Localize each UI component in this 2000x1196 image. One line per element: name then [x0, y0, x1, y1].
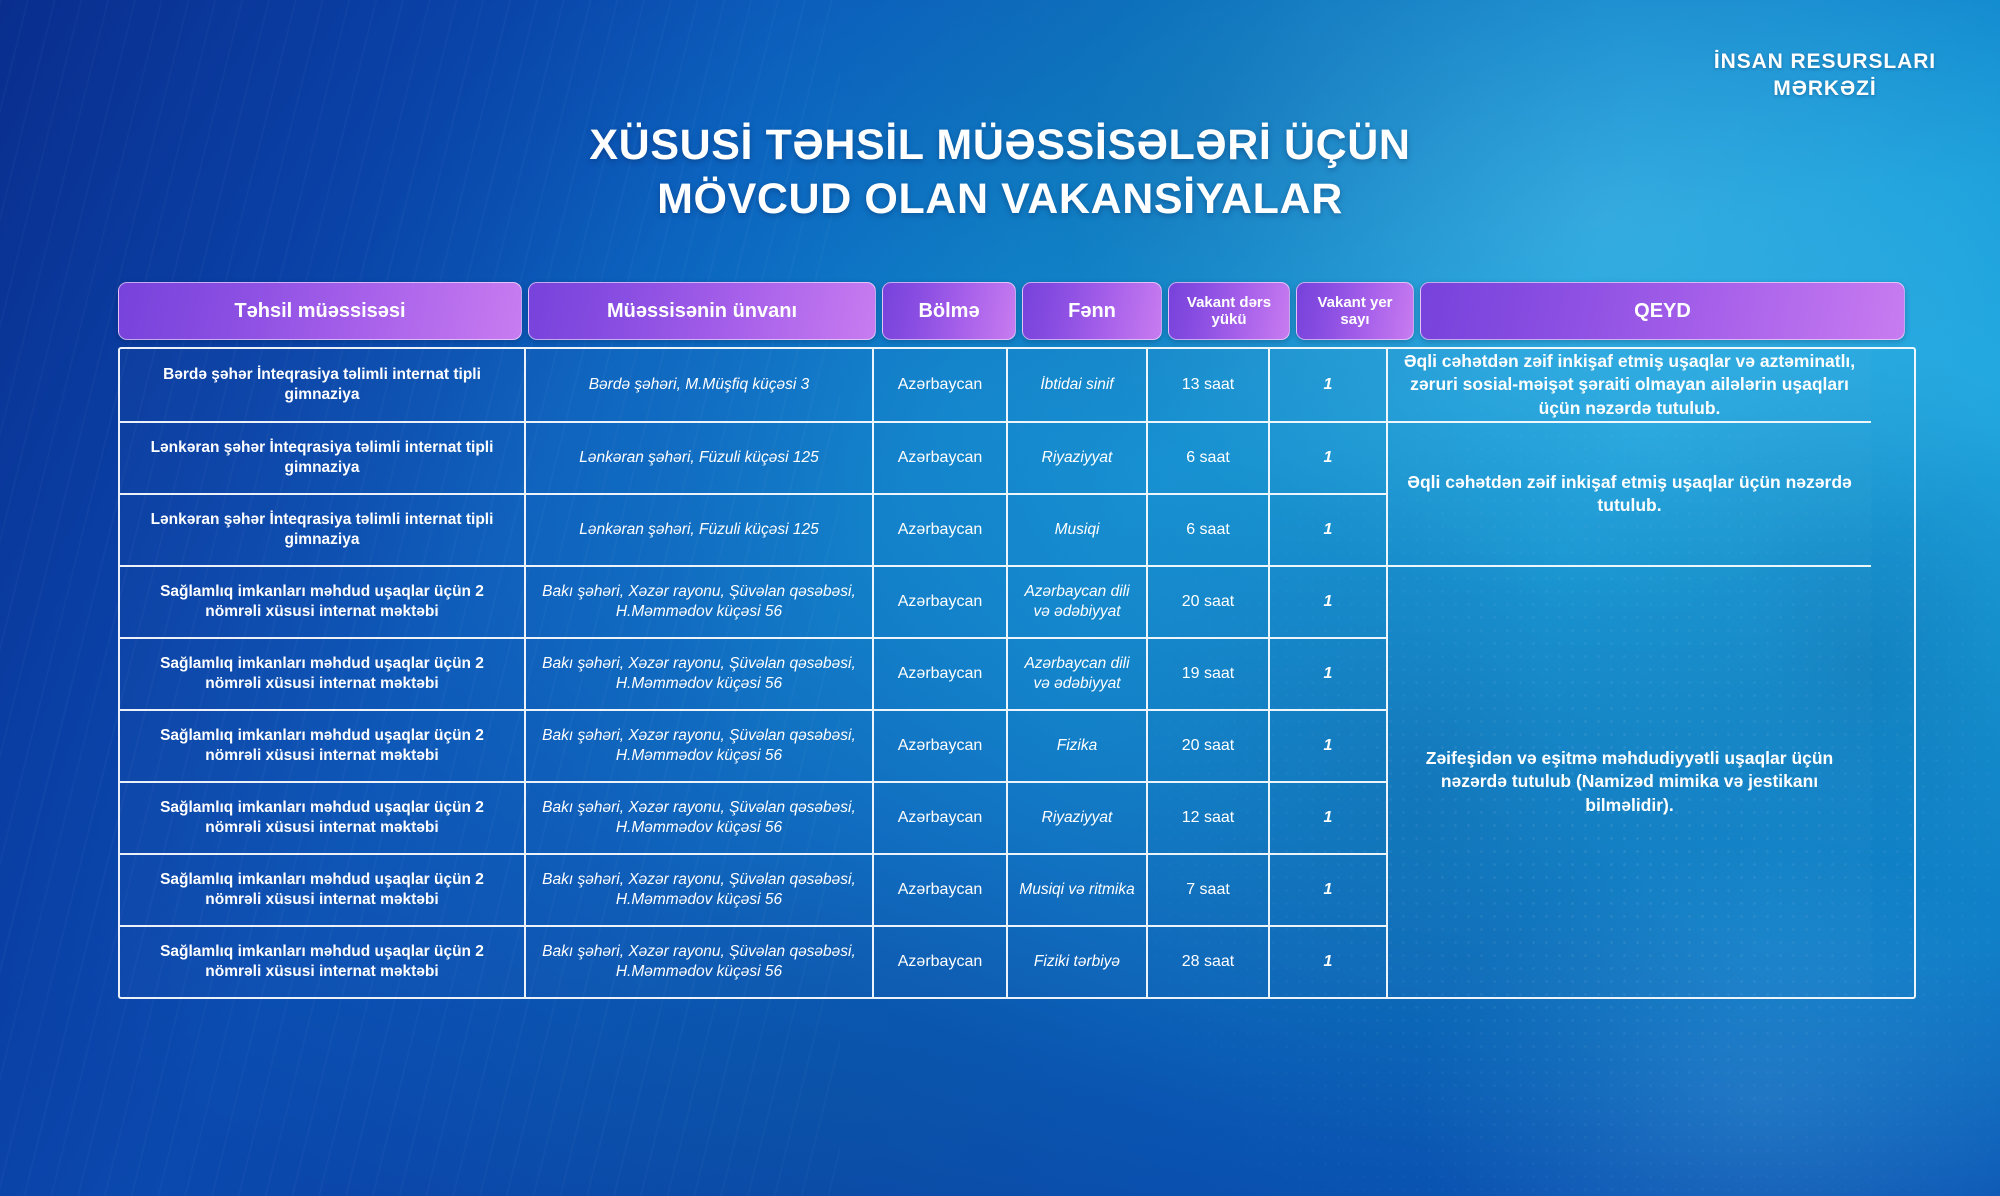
- cell-note: Əqli cəhətdən zəif inkişaf etmiş uşaqlar…: [1388, 421, 1871, 565]
- cell-vacant-seats: 1: [1270, 709, 1386, 781]
- cell-address: Bakı şəhəri, Xəzər rayonu, Şüvəlan qəsəb…: [526, 565, 872, 637]
- column-header-note: QEYD: [1420, 282, 1905, 340]
- cell-note: Zəifeşidən və eşitmə məhdudiyyətli uşaql…: [1388, 565, 1871, 997]
- cell-subject: Musiqi və ritmika: [1008, 853, 1146, 925]
- cell-institution: Sağlamlıq imkanları məhdud uşaqlar üçün …: [120, 637, 524, 709]
- column-subject: İbtidai sinifRiyaziyyatMusiqiAzərbaycan …: [1006, 349, 1146, 997]
- cell-vacant-seats: 1: [1270, 853, 1386, 925]
- table-body: Bərdə şəhər İnteqrasiya təlimli internat…: [118, 347, 1916, 999]
- cell-address: Bakı şəhəri, Xəzər rayonu, Şüvəlan qəsəb…: [526, 781, 872, 853]
- cell-vacant-seats: 1: [1270, 421, 1386, 493]
- cell-vacant-seats: 1: [1270, 925, 1386, 997]
- cell-teaching-load: 19 saat: [1148, 637, 1268, 709]
- cell-institution: Lənkəran şəhər İnteqrasiya təlimli inter…: [120, 493, 524, 565]
- column-address: Bərdə şəhəri, M.Müşfiq küçəsi 3Lənkəran …: [524, 349, 872, 997]
- logo-line-2: MƏRKƏZİ: [1714, 75, 1936, 102]
- cell-institution: Lənkəran şəhər İnteqrasiya təlimli inter…: [120, 421, 524, 493]
- column-header-vacant-seats: Vakant yer sayı: [1296, 282, 1414, 340]
- table-header-row: Təhsil müəssisəsi Müəssisənin ünvanı Böl…: [118, 282, 1916, 340]
- cell-institution: Sağlamlıq imkanları məhdud uşaqlar üçün …: [120, 781, 524, 853]
- cell-teaching-load: 6 saat: [1148, 493, 1268, 565]
- cell-vacant-seats: 1: [1270, 493, 1386, 565]
- column-vacant-seats: 111111111: [1268, 349, 1386, 997]
- cell-section: Azərbaycan: [874, 637, 1006, 709]
- cell-section: Azərbaycan: [874, 925, 1006, 997]
- column-header-teaching-load: Vakant dərs yükü: [1168, 282, 1290, 340]
- cell-institution: Sağlamlıq imkanları məhdud uşaqlar üçün …: [120, 925, 524, 997]
- cell-institution: Sağlamlıq imkanları məhdud uşaqlar üçün …: [120, 709, 524, 781]
- cell-subject: Riyaziyyat: [1008, 781, 1146, 853]
- column-header-address: Müəssisənin ünvanı: [528, 282, 876, 340]
- logo-line-1: İNSAN RESURSLARI: [1714, 48, 1936, 75]
- cell-vacant-seats: 1: [1270, 349, 1386, 421]
- cell-section: Azərbaycan: [874, 421, 1006, 493]
- cell-vacant-seats: 1: [1270, 781, 1386, 853]
- cell-institution: Sağlamlıq imkanları məhdud uşaqlar üçün …: [120, 853, 524, 925]
- cell-teaching-load: 28 saat: [1148, 925, 1268, 997]
- cell-teaching-load: 20 saat: [1148, 565, 1268, 637]
- cell-address: Bakı şəhəri, Xəzər rayonu, Şüvəlan qəsəb…: [526, 853, 872, 925]
- column-header-section: Bölmə: [882, 282, 1016, 340]
- cell-address: Lənkəran şəhəri, Füzuli küçəsi 125: [526, 421, 872, 493]
- column-teaching-load: 13 saat6 saat6 saat20 saat19 saat20 saat…: [1146, 349, 1268, 997]
- cell-section: Azərbaycan: [874, 349, 1006, 421]
- cell-section: Azərbaycan: [874, 709, 1006, 781]
- cell-section: Azərbaycan: [874, 853, 1006, 925]
- column-header-subject: Fənn: [1022, 282, 1162, 340]
- cell-teaching-load: 6 saat: [1148, 421, 1268, 493]
- cell-teaching-load: 12 saat: [1148, 781, 1268, 853]
- cell-teaching-load: 7 saat: [1148, 853, 1268, 925]
- cell-institution: Sağlamlıq imkanları məhdud uşaqlar üçün …: [120, 565, 524, 637]
- cell-vacant-seats: 1: [1270, 565, 1386, 637]
- cell-address: Lənkəran şəhəri, Füzuli küçəsi 125: [526, 493, 872, 565]
- column-section: AzərbaycanAzərbaycanAzərbaycanAzərbaycan…: [872, 349, 1006, 997]
- vacancies-table: Təhsil müəssisəsi Müəssisənin ünvanı Böl…: [118, 282, 1916, 999]
- column-note: Əqli cəhətdən zəif inkişaf etmiş uşaqlar…: [1386, 349, 1871, 997]
- cell-vacant-seats: 1: [1270, 637, 1386, 709]
- organization-logo: İNSAN RESURSLARI MƏRKƏZİ: [1714, 48, 1936, 103]
- cell-subject: Riyaziyyat: [1008, 421, 1146, 493]
- page-title-line-1: XÜSUSİ TƏHSİL MÜƏSSİSƏLƏRİ ÜÇÜN: [0, 118, 2000, 172]
- cell-address: Bakı şəhəri, Xəzər rayonu, Şüvəlan qəsəb…: [526, 637, 872, 709]
- cell-section: Azərbaycan: [874, 781, 1006, 853]
- cell-subject: Azərbaycan dili və ədəbiyyat: [1008, 637, 1146, 709]
- cell-subject: Fizika: [1008, 709, 1146, 781]
- cell-teaching-load: 13 saat: [1148, 349, 1268, 421]
- cell-subject: Fiziki tərbiyə: [1008, 925, 1146, 997]
- column-institution: Bərdə şəhər İnteqrasiya təlimli internat…: [120, 349, 524, 997]
- cell-address: Bakı şəhəri, Xəzər rayonu, Şüvəlan qəsəb…: [526, 709, 872, 781]
- cell-section: Azərbaycan: [874, 565, 1006, 637]
- page-title: XÜSUSİ TƏHSİL MÜƏSSİSƏLƏRİ ÜÇÜN MÖVCUD O…: [0, 118, 2000, 226]
- cell-teaching-load: 20 saat: [1148, 709, 1268, 781]
- cell-address: Bərdə şəhəri, M.Müşfiq küçəsi 3: [526, 349, 872, 421]
- column-header-institution: Təhsil müəssisəsi: [118, 282, 522, 340]
- cell-note: Əqli cəhətdən zəif inkişaf etmiş uşaqlar…: [1388, 349, 1871, 421]
- cell-subject: Musiqi: [1008, 493, 1146, 565]
- cell-subject: Azərbaycan dili və ədəbiyyat: [1008, 565, 1146, 637]
- page-title-line-2: MÖVCUD OLAN VAKANSİYALAR: [0, 172, 2000, 226]
- cell-subject: İbtidai sinif: [1008, 349, 1146, 421]
- cell-section: Azərbaycan: [874, 493, 1006, 565]
- cell-institution: Bərdə şəhər İnteqrasiya təlimli internat…: [120, 349, 524, 421]
- cell-address: Bakı şəhəri, Xəzər rayonu, Şüvəlan qəsəb…: [526, 925, 872, 997]
